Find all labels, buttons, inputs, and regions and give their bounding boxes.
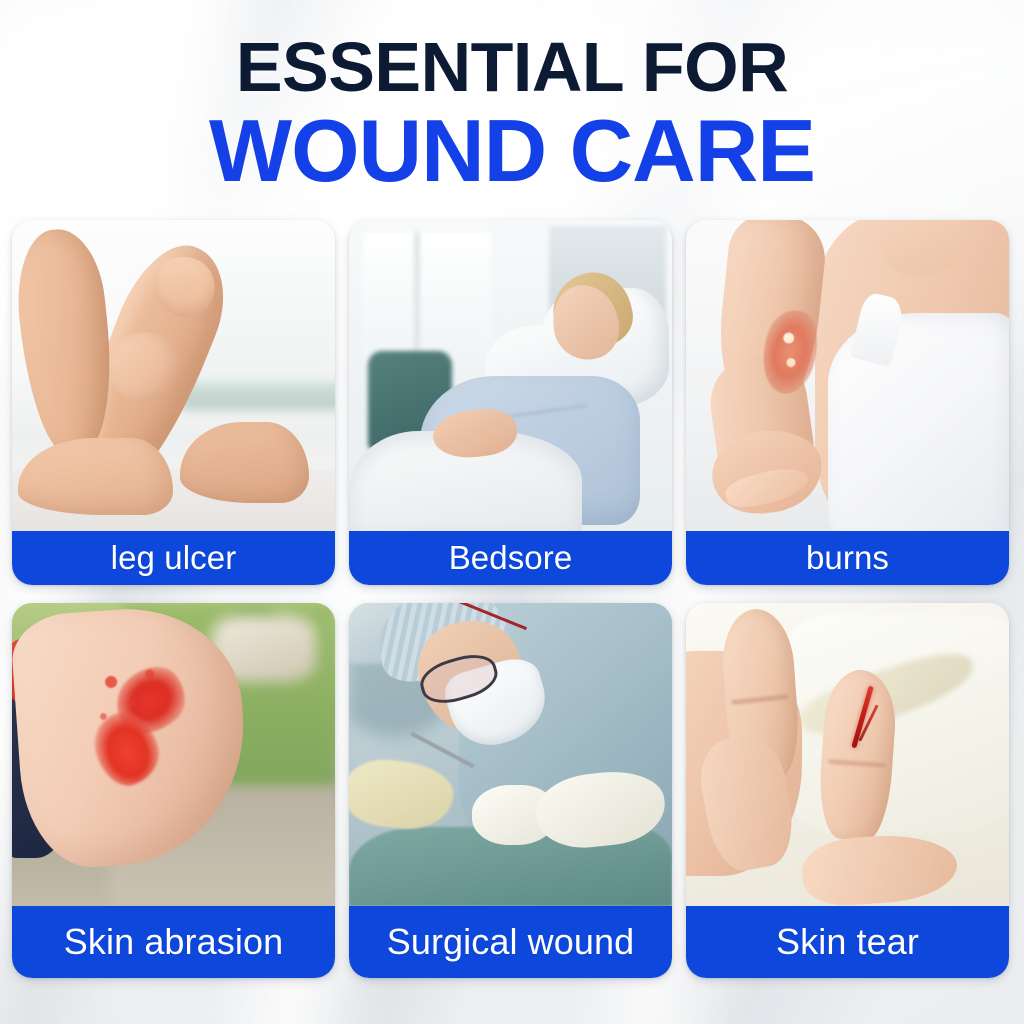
- card-bedsore[interactable]: Bedsore: [349, 220, 672, 585]
- photo-leg-ulcer: [12, 220, 335, 531]
- card-skin-tear[interactable]: Skin tear: [686, 603, 1009, 978]
- card-label-surgical-wound: Surgical wound: [349, 906, 672, 978]
- headline-line-2: WOUND CARE: [0, 110, 1024, 192]
- photo-burns: [686, 220, 1009, 531]
- card-label-skin-tear: Skin tear: [686, 906, 1009, 978]
- photo-skin-abrasion: [12, 603, 335, 906]
- headline-line-1: ESSENTIAL FOR: [0, 34, 1024, 100]
- wound-type-grid: leg ulcer Bedsore: [12, 220, 1012, 978]
- photo-surgical-wound: [349, 603, 672, 906]
- photo-skin-tear: [686, 603, 1009, 906]
- card-photo-skin-tear: [686, 603, 1009, 906]
- card-label-bedsore: Bedsore: [349, 531, 672, 585]
- headline: ESSENTIAL FOR WOUND CARE: [0, 34, 1024, 192]
- poster: ESSENTIAL FOR WOUND CARE leg ulcer: [0, 0, 1024, 1024]
- card-label-burns: burns: [686, 531, 1009, 585]
- card-leg-ulcer[interactable]: leg ulcer: [12, 220, 335, 585]
- card-photo-leg-ulcer: [12, 220, 335, 531]
- card-skin-abrasion[interactable]: Skin abrasion: [12, 603, 335, 978]
- card-label-leg-ulcer: leg ulcer: [12, 531, 335, 585]
- card-label-skin-abrasion: Skin abrasion: [12, 906, 335, 978]
- card-surgical-wound[interactable]: Surgical wound: [349, 603, 672, 978]
- card-photo-bedsore: [349, 220, 672, 531]
- card-photo-surgical-wound: [349, 603, 672, 906]
- photo-bedsore: [349, 220, 672, 531]
- card-photo-skin-abrasion: [12, 603, 335, 906]
- card-photo-burns: [686, 220, 1009, 531]
- card-burns[interactable]: burns: [686, 220, 1009, 585]
